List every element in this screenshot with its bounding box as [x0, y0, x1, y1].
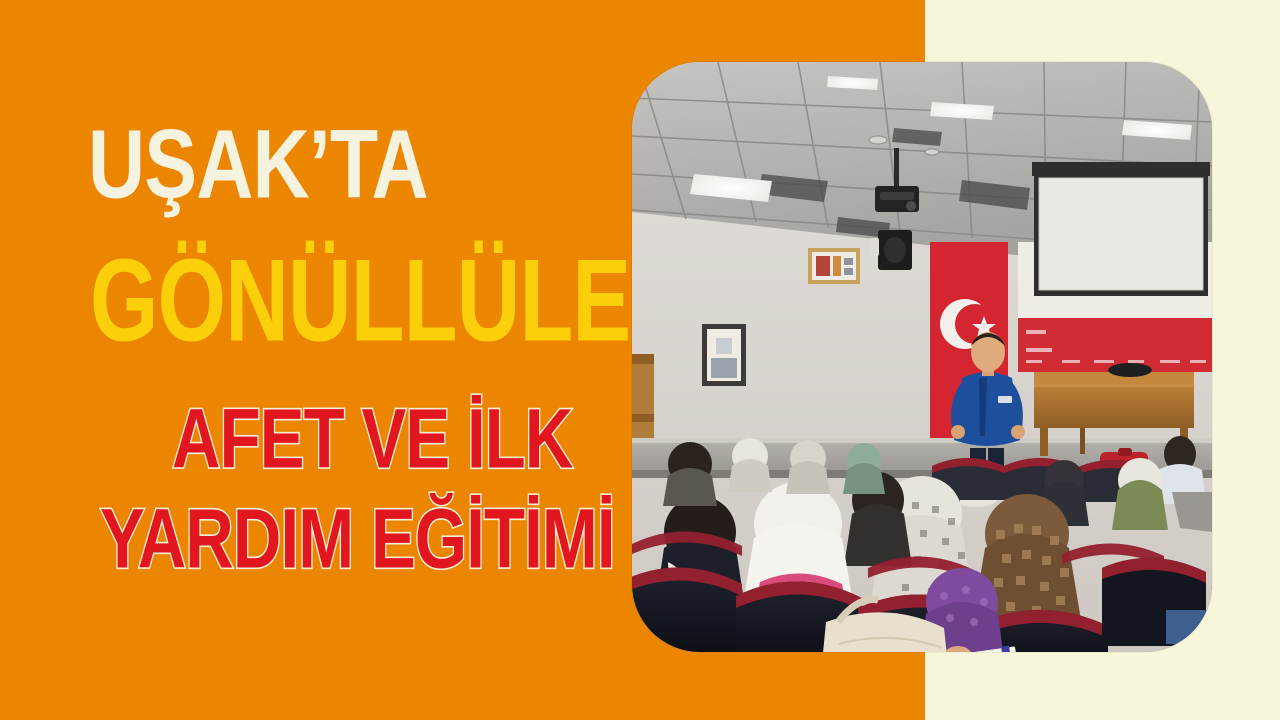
poster-canvas: UŞAK’TA GÖNÜLLÜLERE AFET VE İLK YARDIM E…: [0, 0, 1280, 720]
event-photo: [632, 62, 1212, 652]
headline-line-3: AFET VE İLK: [172, 396, 572, 480]
headline-line-4: YARDIM EĞİTİMİ: [100, 496, 615, 580]
headline-line-1: UŞAK’TA: [88, 116, 428, 214]
event-photo-illustration: [632, 62, 1212, 652]
headline-block: UŞAK’TA GÖNÜLLÜLERE AFET VE İLK YARDIM E…: [0, 0, 630, 720]
